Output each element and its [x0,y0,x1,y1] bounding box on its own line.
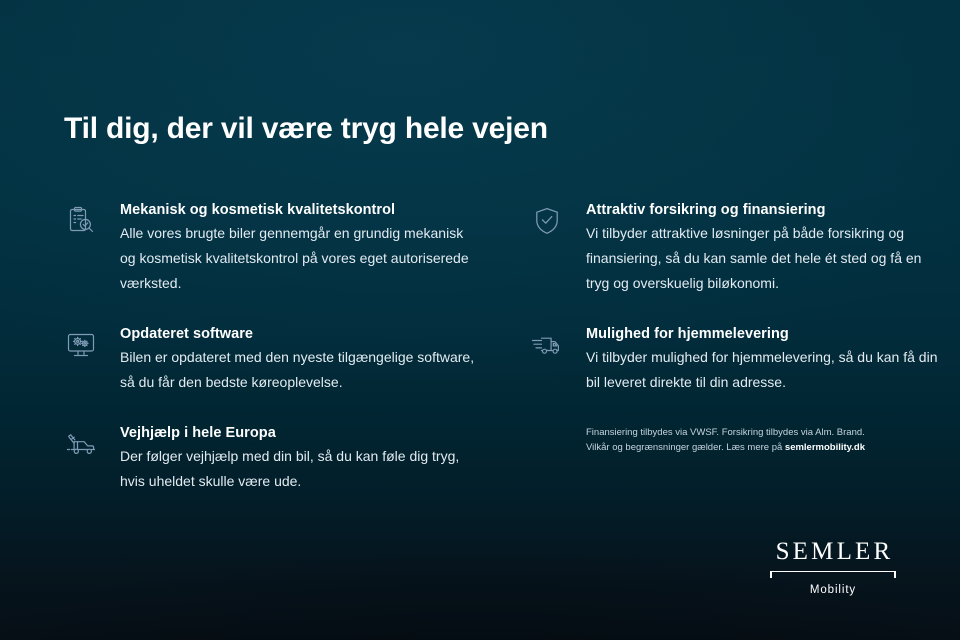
feature-text: Mulighed for hjemmelevering Vi tilbyder … [586,326,960,395]
legal-fineprint: Finansiering tilbydes via VWSF. Forsikri… [586,425,886,455]
page-title: Til dig, der vil være tryg hele vejen [64,0,896,146]
feature-text: Opdateret software Bilen er opdateret me… [120,326,494,395]
feature-description: Alle vores brugte biler gennemgår en gru… [120,221,480,296]
slide-content: Til dig, der vil være tryg hele vejen [0,0,960,524]
feature-item: Mekanisk og kosmetisk kvalitetskontrol A… [64,202,494,296]
feature-text: Mekanisk og kosmetisk kvalitetskontrol A… [120,202,494,296]
feature-description: Vi tilbyder attraktive løsninger på både… [586,221,946,296]
tow-truck-icon [64,427,98,461]
fineprint-line-2: Vilkår og begrænsninger gælder. Læs mere… [586,440,886,455]
delivery-truck-icon [530,328,564,362]
logo-divider-rule [770,571,896,579]
feature-title: Attraktiv forsikring og finansiering [586,202,960,218]
feature-title: Mekanisk og kosmetisk kvalitetskontrol [120,202,494,218]
feature-description: Vi tilbyder mulighed for hjemmelevering,… [586,345,946,395]
fineprint-line-2-text: Vilkår og begrænsninger gælder. Læs mere… [586,442,785,453]
clipboard-checklist-magnifier-icon [64,204,98,238]
feature-description: Der følger vejhjælp med din bil, så du k… [120,444,480,494]
fineprint-line-1: Finansiering tilbydes via VWSF. Forsikri… [586,425,886,440]
slide-root: Til dig, der vil være tryg hele vejen [0,0,960,640]
feature-column-right: Attraktiv forsikring og finansiering Vi … [530,202,960,524]
feature-item: Mulighed for hjemmelevering Vi tilbyder … [530,326,960,395]
feature-text: Attraktiv forsikring og finansiering Vi … [586,202,960,296]
fineprint-link[interactable]: semlermobility.dk [785,442,865,453]
feature-column-left: Mekanisk og kosmetisk kvalitetskontrol A… [64,202,494,524]
feature-text: Vejhjælp i hele Europa Der følger vejhjæ… [120,425,494,494]
feature-title: Opdateret software [120,326,494,342]
semler-mobility-logo: SEMLER Mobility [768,539,898,596]
feature-item: Opdateret software Bilen er opdateret me… [64,326,494,395]
feature-description: Bilen er opdateret med den nyeste tilgæn… [120,345,480,395]
monitor-gears-icon [64,328,98,362]
feature-title: Vejhjælp i hele Europa [120,425,494,441]
shield-check-icon [530,204,564,238]
feature-columns: Mekanisk og kosmetisk kvalitetskontrol A… [64,202,896,524]
logo-wordmark: SEMLER [768,539,898,564]
feature-item: Attraktiv forsikring og finansiering Vi … [530,202,960,296]
logo-subtitle: Mobility [768,584,898,596]
feature-title: Mulighed for hjemmelevering [586,326,960,342]
feature-item: Vejhjælp i hele Europa Der følger vejhjæ… [64,425,494,494]
